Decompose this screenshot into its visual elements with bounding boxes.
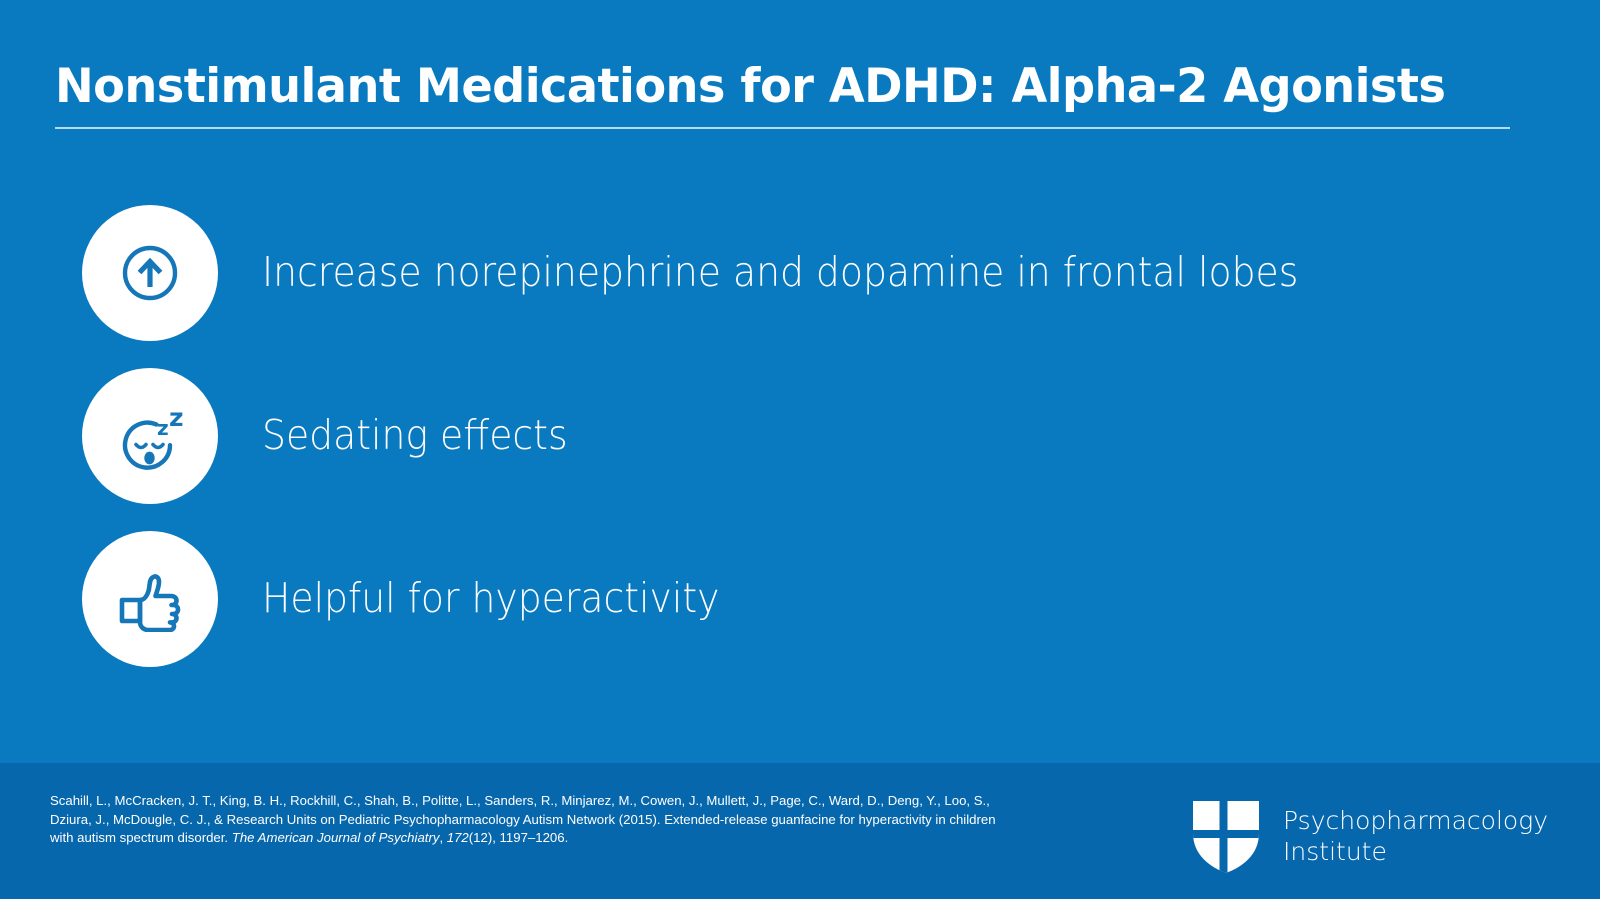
brand-logo: Psychopharmacology Institute [1189, 797, 1548, 875]
brand-logo-text: Psychopharmacology Institute [1283, 805, 1548, 867]
shield-logo-icon [1189, 797, 1263, 875]
page-title: Nonstimulant Medications for ADHD: Alpha… [55, 62, 1513, 113]
svg-text:z: z [169, 403, 184, 432]
thumbs-up-icon [114, 566, 186, 632]
list-item: Helpful for hyperactivity [82, 531, 1522, 667]
bullet-icon-badge [82, 205, 218, 341]
bullet-icon-badge [82, 531, 218, 667]
citation-journal-title: The American Journal of Psychiatry [232, 830, 440, 845]
brand-name-line2: Institute [1283, 836, 1548, 867]
list-item: Increase norepinephrine and dopamine in … [82, 205, 1522, 341]
slide-root: Nonstimulant Medications for ADHD: Alpha… [0, 0, 1600, 899]
citation-text: Scahill, L., McCracken, J. T., King, B. … [50, 792, 1010, 848]
bullet-list: Increase norepinephrine and dopamine in … [82, 205, 1522, 694]
bullet-icon-badge: z z [82, 368, 218, 504]
title-divider [55, 127, 1510, 129]
citation-separator: , [439, 830, 446, 845]
arrow-up-in-circle-icon [119, 242, 181, 304]
svg-text:z: z [157, 416, 169, 440]
list-item-label: Helpful for hyperactivity [262, 576, 719, 621]
citation-volume: 172 [447, 830, 469, 845]
list-item-label: Sedating effects [262, 413, 568, 458]
list-item-label: Increase norepinephrine and dopamine in … [262, 250, 1298, 295]
title-block: Nonstimulant Medications for ADHD: Alpha… [55, 62, 1535, 129]
list-item: z z Sedating effects [82, 368, 1522, 504]
footer-bar: Scahill, L., McCracken, J. T., King, B. … [0, 763, 1600, 899]
citation-issue-pages: (12), 1197–1206. [469, 830, 568, 845]
brand-name-line1: Psychopharmacology [1283, 806, 1548, 835]
sleeping-face-zzz-icon: z z [112, 400, 188, 472]
